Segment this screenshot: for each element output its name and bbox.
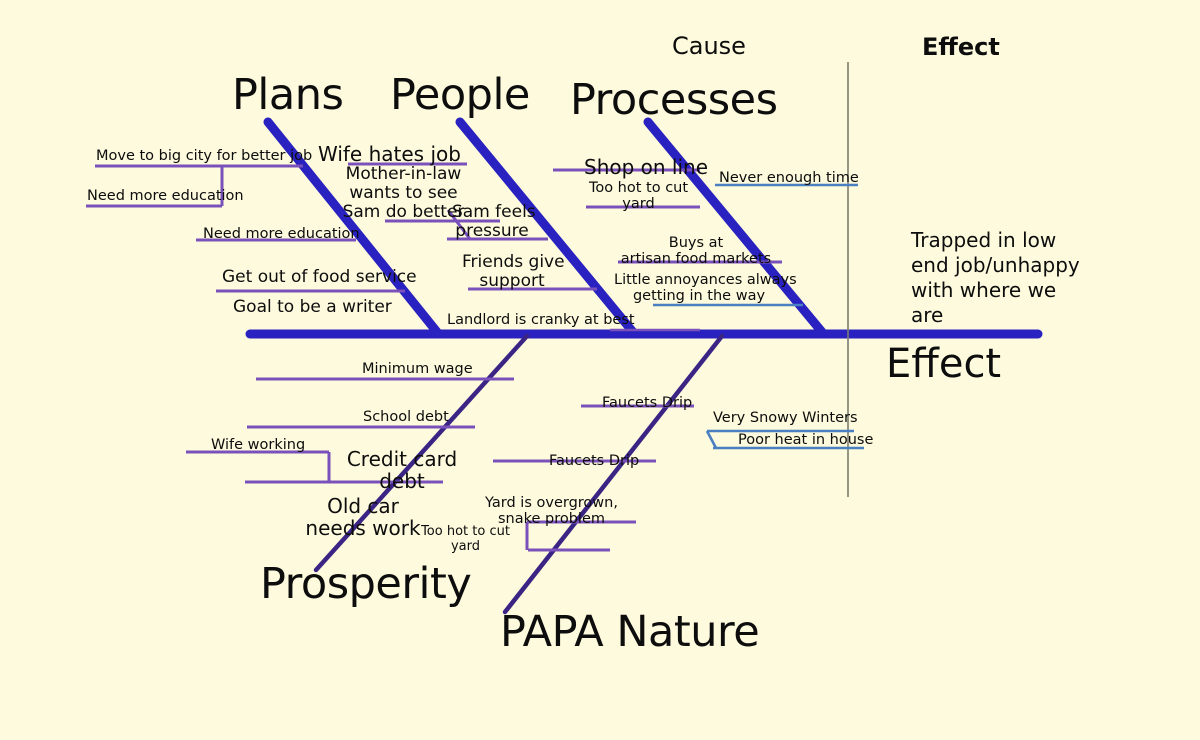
cause-processes-4[interactable]: Buys at artisan food markets xyxy=(606,235,786,267)
cause-processes-2[interactable]: Too hot to cut yard xyxy=(586,180,691,212)
effect-axis-label: Effect xyxy=(922,34,1000,61)
cause-plans-4[interactable]: Get out of food service xyxy=(222,268,417,287)
spine-effect-label: Effect xyxy=(886,342,1001,387)
cause-people-4[interactable]: Friends give support xyxy=(462,253,562,291)
cause-processes-5[interactable]: Little annoyances always getting in the … xyxy=(614,272,784,304)
category-head-people[interactable]: People xyxy=(390,71,530,119)
category-head-processes[interactable]: Processes xyxy=(570,76,777,124)
cause-papa-1[interactable]: Faucets Drip xyxy=(602,395,692,411)
fishbone-diagram: Cause Effect Plans People Processes Pros… xyxy=(0,0,1200,740)
effect-statement: Trapped in low end job/unhappy with wher… xyxy=(911,228,1101,328)
sub-branches-papa-nature xyxy=(493,406,864,550)
category-head-prosperity[interactable]: Prosperity xyxy=(260,560,471,608)
cause-people-2[interactable]: Mother-in-law wants to see Sam do better xyxy=(341,165,466,222)
cause-plans-2[interactable]: Need more education xyxy=(87,188,244,204)
cause-papa-3[interactable]: Very Snowy Winters xyxy=(713,410,858,426)
cause-papa-6[interactable]: Yard is overgrown, snake problem xyxy=(484,495,619,527)
cause-people-3[interactable]: Sam feels pressure xyxy=(452,203,532,241)
category-head-papa-nature[interactable]: PAPA Nature xyxy=(500,608,759,656)
cause-axis-label: Cause xyxy=(672,33,746,60)
cause-plans-3[interactable]: Need more education xyxy=(203,226,360,242)
cause-prosperity-1[interactable]: Minimum wage xyxy=(362,361,473,377)
cause-people-1[interactable]: Wife hates job xyxy=(318,143,461,165)
category-head-plans[interactable]: Plans xyxy=(232,71,343,119)
cause-plans-1[interactable]: Move to big city for better job xyxy=(96,148,312,164)
cause-people-5[interactable]: Landlord is cranky at best xyxy=(447,312,635,328)
cause-processes-3[interactable]: Never enough time xyxy=(719,170,859,186)
cause-processes-1[interactable]: Shop on line xyxy=(584,156,708,178)
cause-papa-4[interactable]: Poor heat in house xyxy=(738,432,873,448)
cause-prosperity-5[interactable]: Old car needs work xyxy=(304,495,422,540)
cause-plans-5[interactable]: Goal to be a writer xyxy=(233,298,392,317)
rib-papa-nature xyxy=(505,336,722,612)
cause-prosperity-3[interactable]: Wife working xyxy=(211,437,305,453)
cause-papa-2[interactable]: Faucets Drip xyxy=(549,453,639,469)
cause-papa-5[interactable]: Too hot to cut yard xyxy=(418,525,513,554)
cause-prosperity-2[interactable]: School debt xyxy=(363,409,449,425)
cause-prosperity-4[interactable]: Credit card debt xyxy=(343,448,461,493)
